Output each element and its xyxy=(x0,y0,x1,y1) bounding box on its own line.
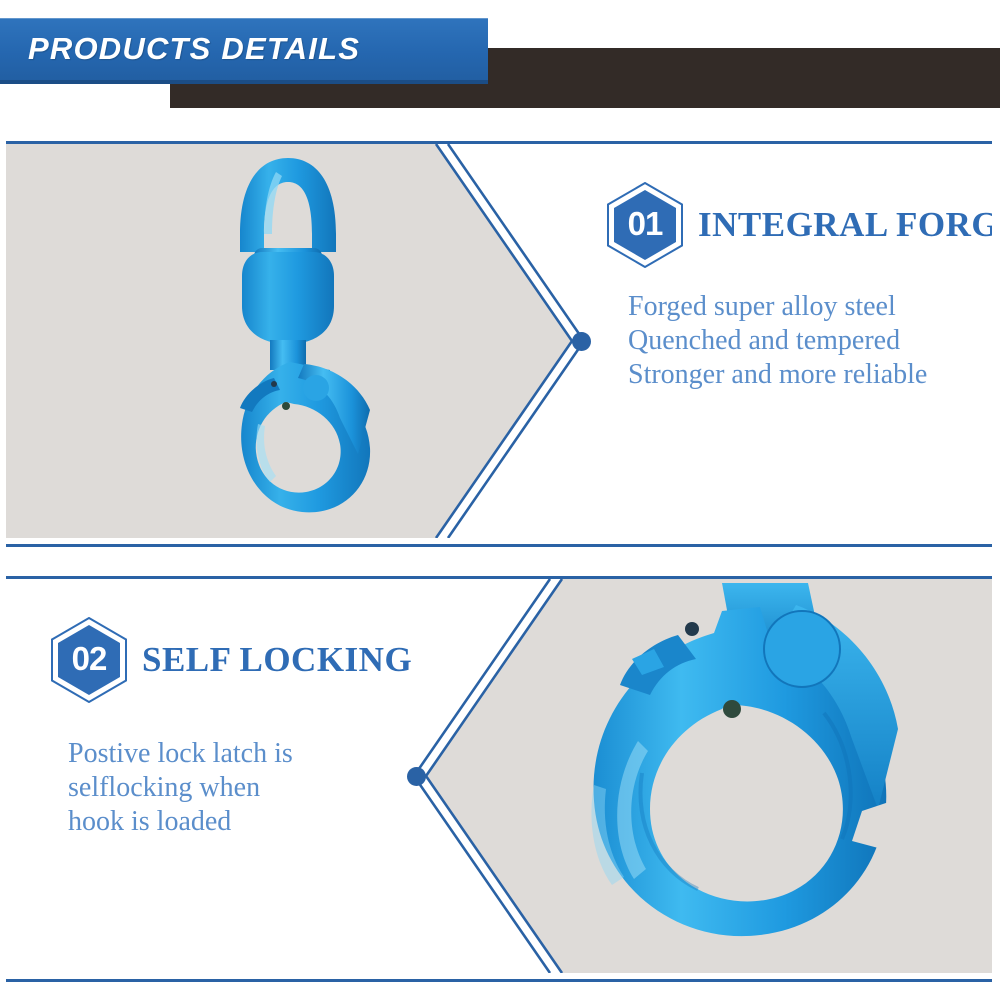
feature-panel-1: 01 INTEGRAL FORGING Forged super alloy s… xyxy=(6,141,992,547)
feature-body-line: Postive lock latch is xyxy=(68,737,470,771)
feature-panel-2: 02 SELF LOCKING Postive lock latch is se… xyxy=(6,576,992,982)
feature-body-line: hook is loaded xyxy=(68,805,470,839)
feature-title-1: INTEGRAL FORGING xyxy=(698,205,992,245)
hexagon-badge-number-02: 02 xyxy=(50,616,128,702)
feature-body-line: Quenched and tempered xyxy=(628,324,992,358)
feature-heading-1: 01 INTEGRAL FORGING xyxy=(606,182,992,268)
hexagon-badge-number-01: 01 xyxy=(606,181,684,267)
feature-content-1: 01 INTEGRAL FORGING Forged super alloy s… xyxy=(606,182,992,392)
feature-heading-2: 02 SELF LOCKING xyxy=(50,617,470,703)
feature-title-2: SELF LOCKING xyxy=(142,640,412,680)
page-title: PRODUCTS DETAILS xyxy=(28,20,360,78)
feature-body-1: Forged super alloy steel Quenched and te… xyxy=(628,290,992,392)
product-photo-1 xyxy=(6,144,572,538)
feature-body-2: Postive lock latch is selflocking when h… xyxy=(68,737,470,839)
feature-body-line: Stronger and more reliable xyxy=(628,358,992,392)
hook-illustration-full xyxy=(6,144,572,538)
hexagon-badge-01: 01 xyxy=(606,182,684,268)
feature-body-line: selflocking when xyxy=(68,771,470,805)
infographic-root: PRODUCTS DETAILS xyxy=(0,0,1000,1000)
page-header: PRODUCTS DETAILS xyxy=(0,0,1000,130)
hook-illustration-closeup xyxy=(426,579,992,973)
connector-dot-1 xyxy=(572,332,591,351)
product-photo-2 xyxy=(426,579,992,973)
feature-content-2: 02 SELF LOCKING Postive lock latch is se… xyxy=(50,617,470,839)
header-banner-edge xyxy=(0,80,488,84)
feature-body-line: Forged super alloy steel xyxy=(628,290,992,324)
hexagon-badge-02: 02 xyxy=(50,617,128,703)
